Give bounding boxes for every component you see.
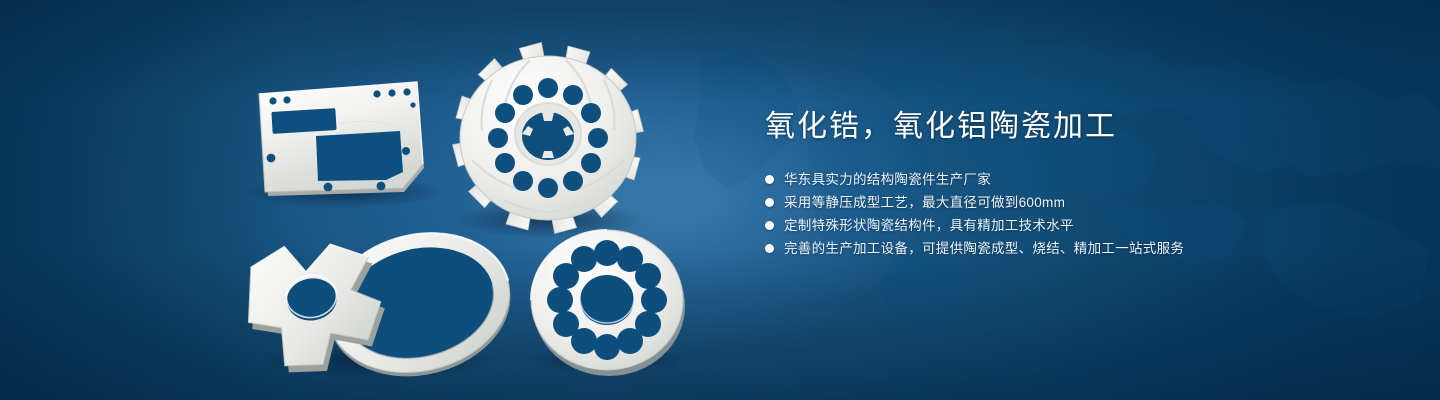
bullet-dot-icon	[765, 198, 774, 207]
bullet-dot-icon	[765, 221, 774, 230]
feature-text: 定制特殊形状陶瓷结构件，具有精加工技术水平	[784, 214, 1074, 237]
bullet-dot-icon	[765, 175, 774, 184]
page-title: 氧化锆，氧化铝陶瓷加工	[765, 108, 1385, 146]
ceramic-holed-disc-part	[531, 230, 685, 376]
feature-text: 完善的生产加工设备，可提供陶瓷成型、烧结、精加工一站式服务	[784, 237, 1184, 260]
feature-text: 华东具实力的结构陶瓷件生产厂家	[784, 168, 991, 191]
banner-hero: 氧化锆，氧化铝陶瓷加工 华东具实力的结构陶瓷件生产厂家 采用等静压成型工艺，最大…	[0, 0, 1440, 400]
ceramic-plate-part	[259, 82, 424, 196]
feature-list: 华东具实力的结构陶瓷件生产厂家 采用等静压成型工艺，最大直径可做到600mm 定…	[765, 168, 1385, 260]
hero-text-block: 氧化锆，氧化铝陶瓷加工 华东具实力的结构陶瓷件生产厂家 采用等静压成型工艺，最大…	[765, 108, 1385, 260]
bullet-dot-icon	[765, 244, 774, 253]
product-photo-group	[0, 0, 760, 400]
list-item: 采用等静压成型工艺，最大直径可做到600mm	[765, 191, 1385, 214]
list-item: 定制特殊形状陶瓷结构件，具有精加工技术水平	[765, 214, 1385, 237]
list-item: 完善的生产加工设备，可提供陶瓷成型、烧结、精加工一站式服务	[765, 237, 1385, 260]
feature-text: 采用等静压成型工艺，最大直径可做到600mm	[784, 191, 1065, 214]
list-item: 华东具实力的结构陶瓷件生产厂家	[765, 168, 1385, 191]
